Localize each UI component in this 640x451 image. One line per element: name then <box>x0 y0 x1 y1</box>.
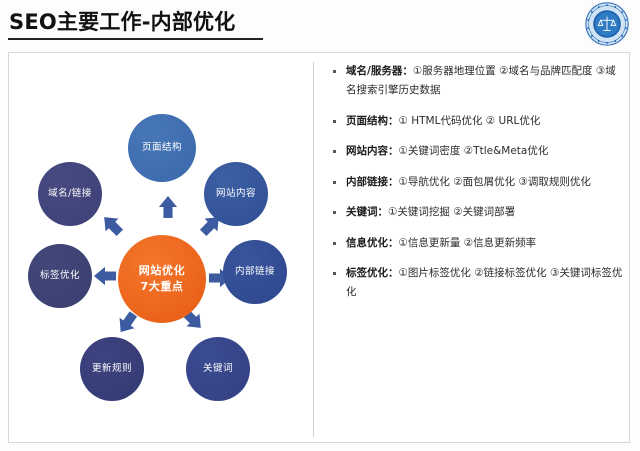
seo-radial-diagram: 页面结构 网站内容 内部链接 关键词 更新规则 标签优化 域名/链接 网站优化 … <box>8 52 313 443</box>
bullet-detail: ①关键词挖掘 ②关键词部署 <box>388 206 515 218</box>
title-underline <box>8 38 263 40</box>
bullet-term: 内部链接： <box>346 176 399 188</box>
bullet-detail: ①导航优化 ②面包屑优化 ③调取规则优化 <box>399 176 591 188</box>
node-label: 网站内容 <box>216 189 256 200</box>
diagram-node-internal-links[interactable]: 内部链接 <box>223 240 287 304</box>
node-label: 域名/链接 <box>48 189 92 200</box>
diagram-core-circle[interactable]: 网站优化 7大重点 <box>118 235 206 323</box>
vertical-divider <box>313 62 314 437</box>
bullet-item-keywords: 关键词：①关键词挖掘 ②关键词部署 <box>332 203 624 222</box>
bullet-dot-icon <box>333 242 336 245</box>
node-label: 更新规则 <box>92 364 132 375</box>
bullet-dot-icon <box>333 181 336 184</box>
arrow-left-icon <box>92 263 118 289</box>
arrow-up-icon <box>155 194 181 220</box>
diagram-node-page-structure[interactable]: 页面结构 <box>128 114 196 182</box>
scales-of-justice-emblem-icon <box>584 1 630 47</box>
node-label: 标签优化 <box>40 271 80 282</box>
bullet-dot-icon <box>333 272 336 275</box>
diagram-node-update-rules[interactable]: 更新规则 <box>80 337 144 401</box>
node-label: 页面结构 <box>142 143 182 154</box>
bullet-detail: ①关键词密度 ②Ttle&Meta优化 <box>399 145 549 157</box>
bullet-item-info-optimize: 信息优化：①信息更新量 ②信息更新频率 <box>332 234 624 253</box>
bullet-item-tag-optimize: 标签优化：①图片标签优化 ②链接标签优化 ③关键词标签优化 <box>332 264 624 303</box>
node-label: 关键词 <box>203 364 233 375</box>
bullet-list: 域名/服务器：①服务器地理位置 ②域名与品牌匹配度 ③域名搜索引擎历史数据 页面… <box>332 62 624 437</box>
bullet-term: 关键词： <box>346 206 388 218</box>
diagram-node-tag-optimize[interactable]: 标签优化 <box>28 244 92 308</box>
diagram-node-keywords[interactable]: 关键词 <box>186 337 250 401</box>
bullet-dot-icon <box>333 211 336 214</box>
bullet-item-domain-server: 域名/服务器：①服务器地理位置 ②域名与品牌匹配度 ③域名搜索引擎历史数据 <box>332 62 624 101</box>
bullet-term: 网站内容： <box>346 145 399 157</box>
node-label: 内部链接 <box>235 267 275 278</box>
slide-canvas: SEO主要工作-内部优化 <box>0 0 640 451</box>
bullet-dot-icon <box>333 120 336 123</box>
bullet-term: 信息优化： <box>346 237 399 249</box>
bullet-item-page-structure: 页面结构：① HTML代码优化 ② URL优化 <box>332 112 624 131</box>
bullet-detail: ① HTML代码优化 ② URL优化 <box>399 115 541 127</box>
bullet-term: 域名/服务器： <box>346 65 413 77</box>
bullet-item-site-content: 网站内容：①关键词密度 ②Ttle&Meta优化 <box>332 142 624 161</box>
core-line-2: 7大重点 <box>140 279 183 295</box>
bullet-dot-icon <box>333 70 336 73</box>
bullet-item-internal-links: 内部链接：①导航优化 ②面包屑优化 ③调取规则优化 <box>332 173 624 192</box>
core-line-1: 网站优化 <box>139 263 185 279</box>
page-title: SEO主要工作-内部优化 <box>9 6 235 36</box>
arrow-upleft-icon <box>99 212 125 238</box>
bullet-term: 标签优化： <box>346 267 399 279</box>
bullet-term: 页面结构： <box>346 115 399 127</box>
diagram-node-site-content[interactable]: 网站内容 <box>204 162 268 226</box>
bullet-detail: ①信息更新量 ②信息更新频率 <box>399 237 537 249</box>
diagram-node-domain-links[interactable]: 域名/链接 <box>38 162 102 226</box>
slide-header: SEO主要工作-内部优化 <box>0 0 640 46</box>
bullet-dot-icon <box>333 150 336 153</box>
